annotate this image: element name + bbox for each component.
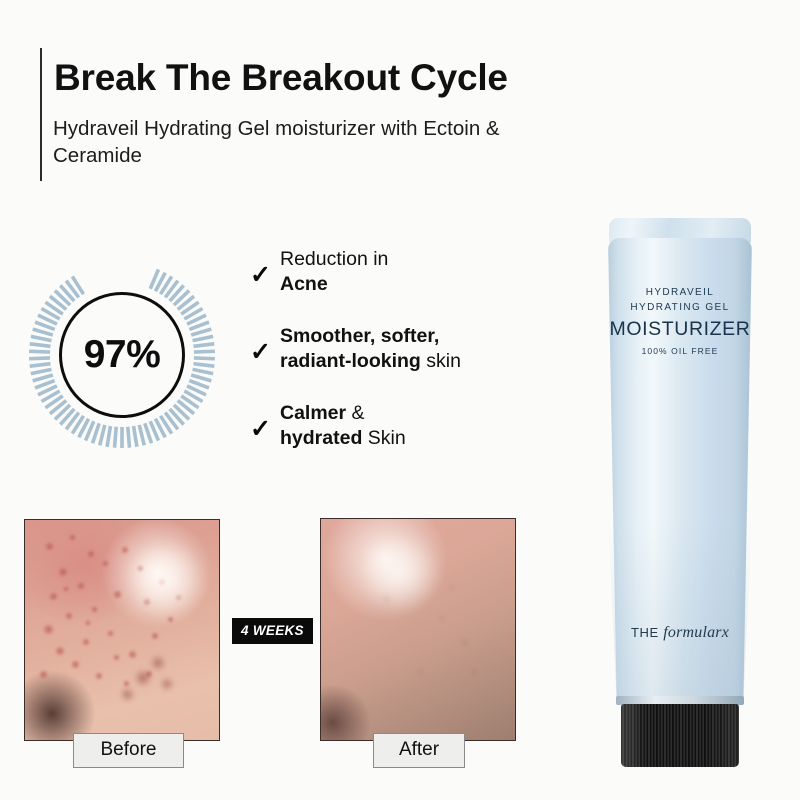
skin-blemish	[45, 542, 54, 551]
benefit-line-2: Acne	[280, 273, 328, 295]
page-title: Break The Breakout Cycle	[54, 58, 574, 98]
tube-product-type: MOISTURIZER	[608, 318, 752, 341]
skin-blemish	[151, 656, 165, 670]
benefit-text: Reduction in Acne	[280, 247, 388, 297]
brandmark-the: THE	[631, 625, 659, 640]
skin-blemish	[65, 612, 73, 620]
skin-blemish	[55, 646, 65, 656]
skin-blemish	[135, 670, 151, 686]
skin-blemish	[85, 620, 91, 626]
skin-blemish	[69, 534, 76, 541]
benefit-line-2: radiant-looking	[280, 350, 421, 372]
skin-blemish	[102, 560, 109, 567]
check-icon: ✓	[250, 340, 280, 365]
tube-brandmark: THE formularx	[608, 624, 752, 642]
benefit-text: Calmer & hydrated Skin	[280, 401, 406, 451]
benefit-line-2-suffix: Skin	[362, 427, 405, 449]
check-icon: ✓	[250, 263, 280, 288]
skin-blemish	[449, 585, 454, 590]
duration-badge: 4 WEEKS	[232, 618, 313, 644]
skin-blemish	[417, 669, 423, 675]
tube-body-shading	[608, 518, 752, 700]
before-photo	[24, 519, 220, 741]
skin-blemish	[461, 639, 468, 646]
skin-blemish	[39, 670, 48, 679]
after-label: After	[373, 733, 465, 768]
product-tube: HYDRAVEIL HYDRATING GEL MOISTURIZER 100%…	[596, 218, 766, 778]
before-label: Before	[73, 733, 184, 768]
list-item: ✓ Smoother, softer, radiant-looking skin	[250, 323, 540, 375]
benefit-line-1: Calmer	[280, 402, 346, 424]
benefit-line-1: Smoother, softer,	[280, 325, 439, 347]
gauge-center: 97%	[59, 292, 185, 418]
promo-canvas: Break The Breakout Cycle Hydraveil Hydra…	[0, 0, 800, 800]
list-item: ✓ Calmer & hydrated Skin	[250, 400, 540, 452]
tube-brand-line-1: HYDRAVEIL	[608, 286, 752, 301]
skin-blemish	[113, 590, 122, 599]
page-subtitle: Hydraveil Hydrating Gel moisturizer with…	[53, 115, 513, 170]
skin-blemish	[439, 615, 445, 621]
brandmark-name: formularx	[663, 624, 729, 641]
skin-blemish	[123, 680, 130, 687]
tube-claim: 100% OIL FREE	[608, 346, 752, 356]
benefit-text: Smoother, softer, radiant-looking skin	[280, 324, 461, 374]
tube-cap-highlight	[621, 704, 739, 767]
skin-blemish	[128, 650, 137, 659]
skin-blemish	[161, 678, 173, 690]
check-icon: ✓	[250, 417, 280, 442]
skin-blemish	[71, 660, 80, 669]
skin-blemish	[91, 606, 98, 613]
after-photo	[320, 518, 516, 741]
benefits-list: ✓ Reduction in Acne ✓ Smoother, softer, …	[250, 246, 540, 477]
skin-blemish	[87, 550, 95, 558]
header-accent-rule	[40, 48, 42, 181]
list-item: ✓ Reduction in Acne	[250, 246, 540, 298]
skin-blemish	[63, 586, 69, 592]
skin-blemish	[77, 582, 85, 590]
skin-blemish	[357, 529, 443, 615]
skin-blemish	[95, 672, 103, 680]
skin-blemish	[113, 654, 120, 661]
skin-blemish	[471, 669, 477, 675]
tube-brand-line-2: HYDRATING GEL	[608, 301, 752, 316]
skin-blemish	[82, 638, 90, 646]
benefit-line-1: Reduction in	[280, 248, 388, 270]
skin-blemish	[58, 567, 68, 577]
benefit-line-2: hydrated	[280, 427, 362, 449]
skin-blemish	[121, 688, 134, 701]
gauge-value-label: 97%	[84, 333, 161, 377]
benefit-line-2-suffix: skin	[421, 350, 461, 372]
skin-blemish	[107, 630, 114, 637]
skin-blemish	[121, 546, 129, 554]
benefit-line-1-suffix: &	[346, 402, 364, 424]
skin-blemish	[151, 632, 159, 640]
skin-blemish	[49, 592, 58, 601]
skin-blemish	[123, 538, 207, 622]
efficacy-gauge: 97%	[28, 261, 216, 449]
tube-label: HYDRAVEIL HYDRATING GEL MOISTURIZER 100%…	[608, 286, 752, 356]
skin-blemish	[43, 624, 54, 635]
